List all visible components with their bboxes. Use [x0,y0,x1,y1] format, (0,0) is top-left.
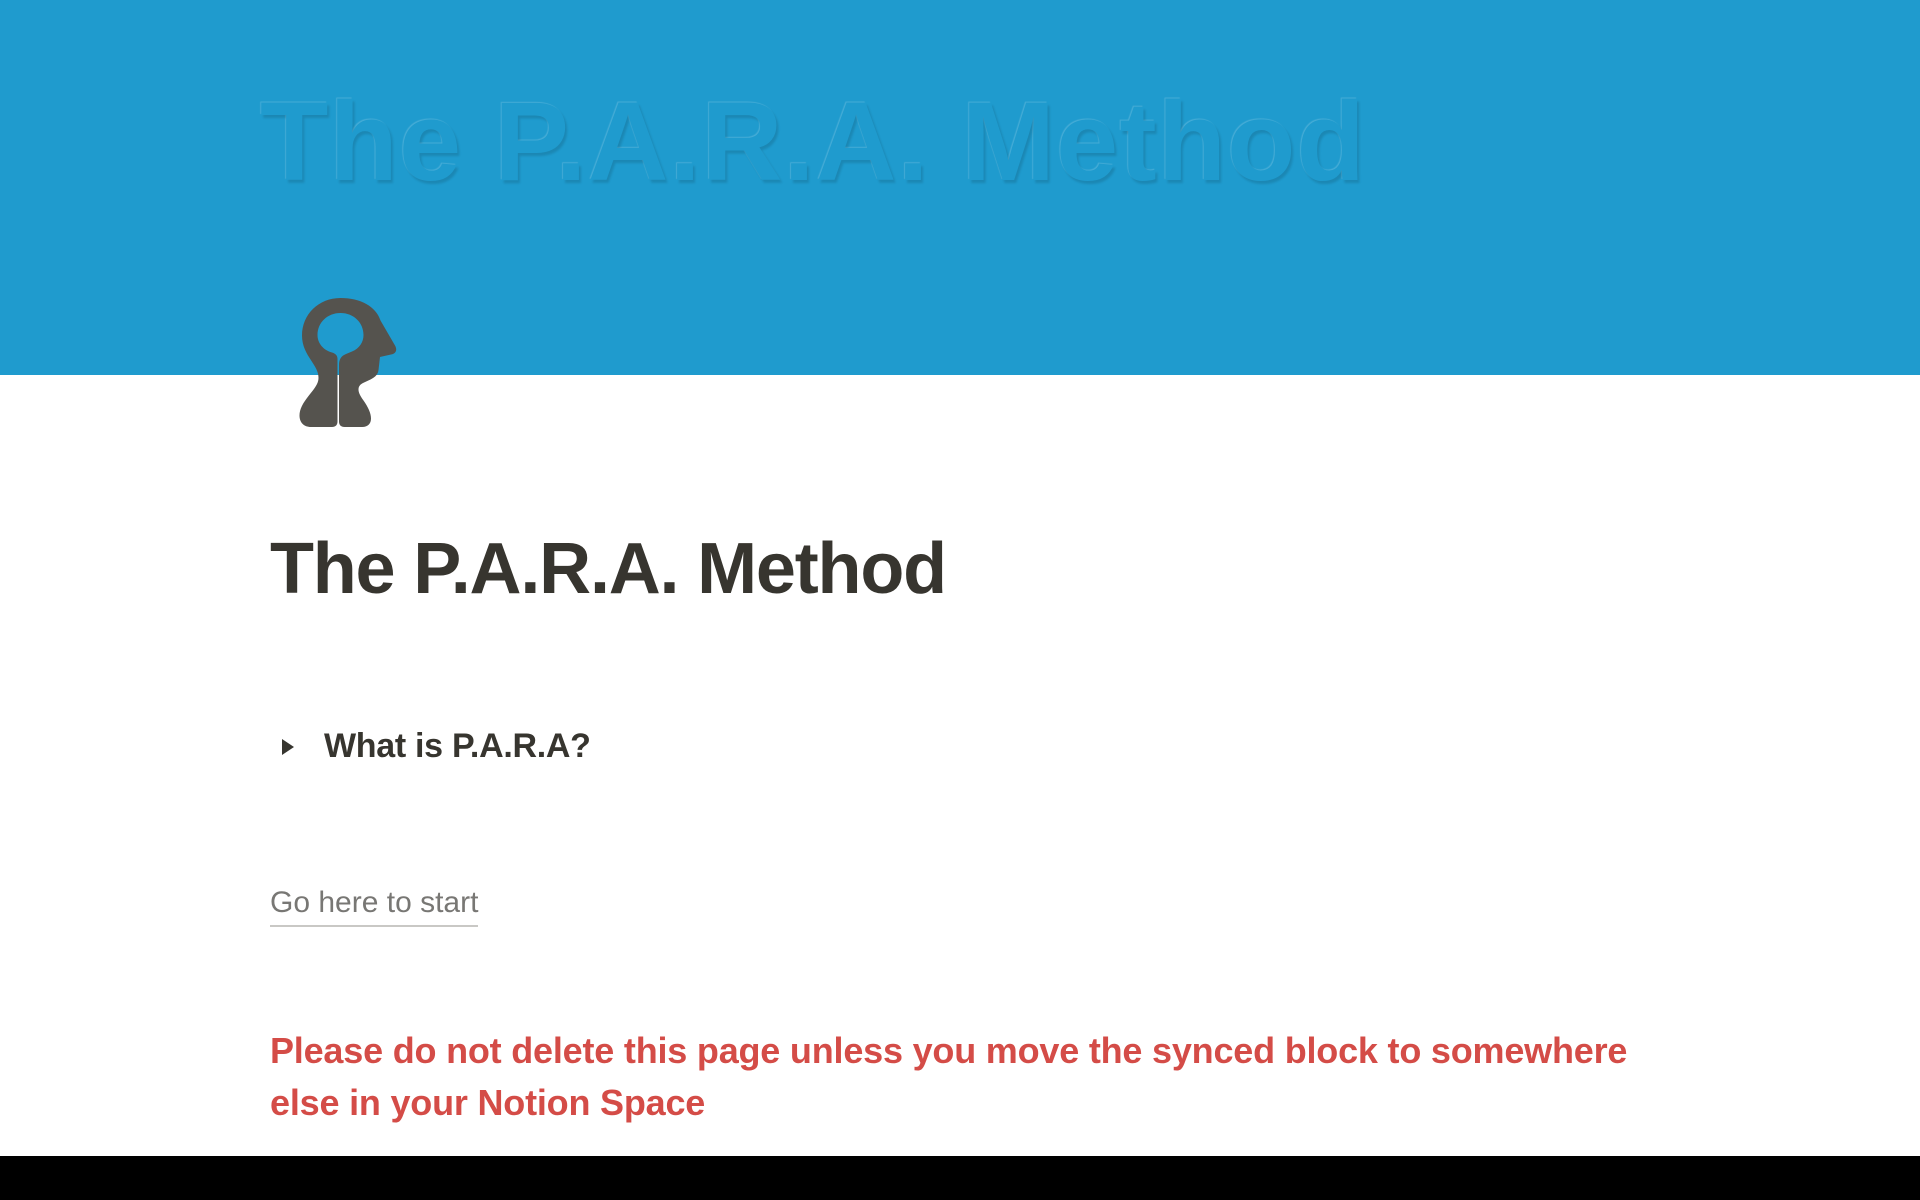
do-not-delete-warning: Please do not delete this page unless yo… [270,1025,1700,1129]
toggle-block[interactable]: What is P.A.R.A? [274,727,591,766]
go-here-to-start-link[interactable]: Go here to start [270,885,478,927]
page-title: The P.A.R.A. Method [270,530,946,609]
head-keyhole-icon [296,296,404,436]
cover-embossed-title: The P.A.R.A. Method [260,86,1366,198]
bottom-black-bar [0,1156,1920,1200]
page-cover[interactable]: The P.A.R.A. Method [0,0,1920,375]
page-icon[interactable] [296,296,404,436]
triangle-right-icon[interactable] [274,730,302,764]
toggle-label[interactable]: What is P.A.R.A? [324,727,591,766]
notion-page: The P.A.R.A. Method The P.A.R.A. Method … [0,0,1920,1200]
